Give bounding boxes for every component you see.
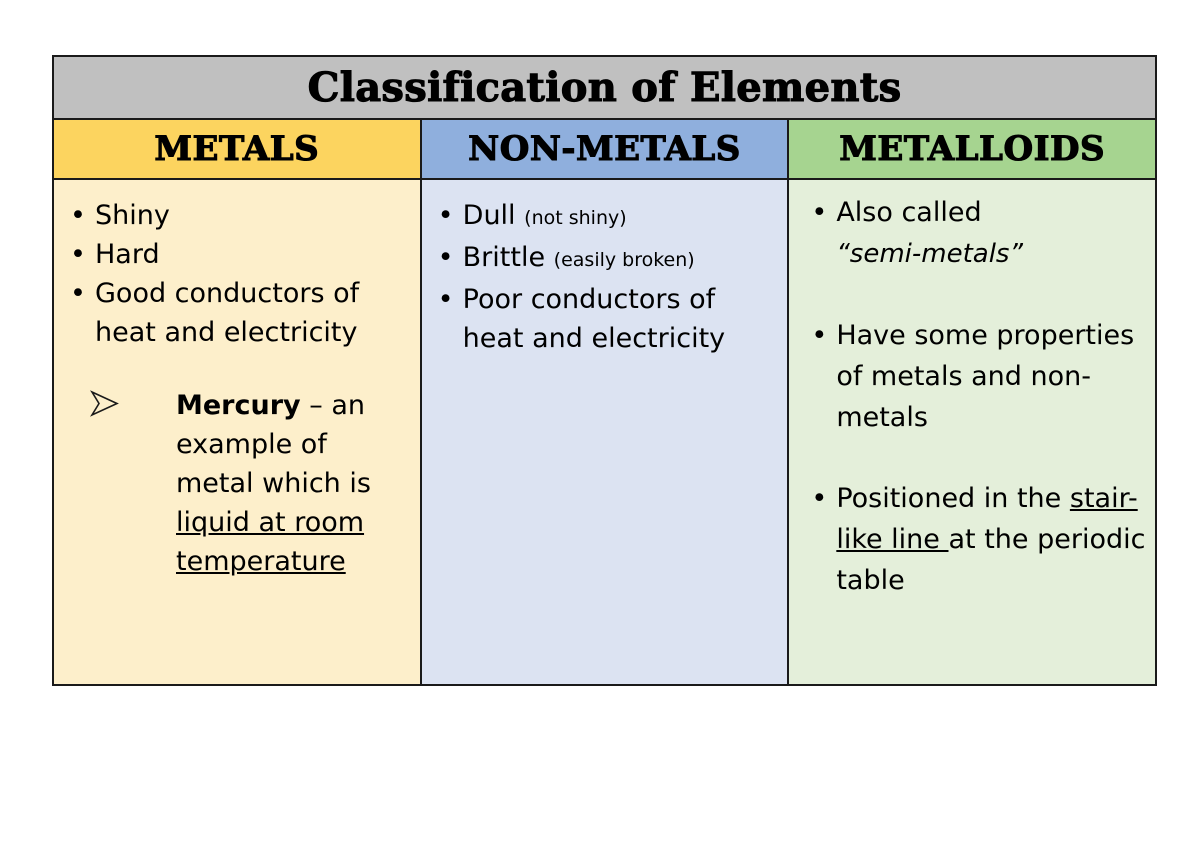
column-header-metalloids: METALLOIDS	[788, 119, 1156, 179]
non-metals-content: • Dull (not shiny) • Brittle (easily bro…	[422, 180, 788, 368]
list-item: • Good conductors of heat and electricit…	[68, 274, 410, 352]
list-item-note: (not shiny)	[524, 207, 627, 229]
bullet-dot-icon: •	[438, 238, 454, 277]
list-item-label: Also called	[836, 197, 981, 228]
bullet-dot-icon: •	[811, 478, 827, 519]
spacer	[809, 438, 1147, 478]
list-item-label: Hard	[95, 239, 160, 270]
list-item-label: Have some properties of metals and non-m…	[836, 320, 1134, 433]
bullet-dot-icon: •	[811, 315, 827, 356]
list-item: • Have some properties of metals and non…	[809, 315, 1147, 438]
list-item: • Positioned in the stair-like line at t…	[809, 478, 1147, 601]
metalloids-content: • Also called “semi-metals” • Have some …	[789, 180, 1155, 611]
bullet-dot-icon: •	[811, 192, 827, 233]
mercury-underlined-text: liquid at room temperature	[176, 507, 364, 577]
metalloids-bullet-list: • Also called “semi-metals” • Have some …	[809, 192, 1147, 601]
bullet-dot-icon: •	[438, 280, 454, 319]
table-title-row: Classification of Elements	[53, 56, 1156, 119]
bullet-dot-icon: •	[70, 235, 86, 274]
list-item: • Dull (not shiny)	[436, 196, 778, 238]
mercury-term: Mercury	[176, 390, 301, 421]
spacer	[809, 275, 1147, 315]
column-body-metalloids: • Also called “semi-metals” • Have some …	[788, 179, 1156, 685]
list-item: • Also called “semi-metals”	[809, 192, 1147, 275]
page-canvas: Classification of Elements METALS NON-ME…	[0, 0, 1200, 849]
column-header-metals-label: METALS	[54, 131, 420, 167]
column-header-metalloids-label: METALLOIDS	[789, 131, 1155, 167]
list-item-label: Dull	[463, 200, 516, 231]
mercury-dash: –	[301, 390, 332, 421]
list-item: • Brittle (easily broken)	[436, 238, 778, 280]
list-item-label: Brittle	[463, 242, 545, 273]
table-body-row: • Shiny • Hard • Good conductors of heat…	[53, 179, 1156, 685]
non-metals-bullet-list: • Dull (not shiny) • Brittle (easily bro…	[436, 196, 778, 358]
table-title-cell: Classification of Elements	[53, 56, 1156, 119]
mercury-note: Mercury – an example of metal which is l…	[68, 386, 410, 581]
column-body-metals: • Shiny • Hard • Good conductors of heat…	[53, 179, 421, 685]
list-item-note: (easily broken)	[554, 249, 695, 271]
list-item-label: Good conductors of heat and electricity	[95, 278, 359, 348]
list-item: • Shiny	[68, 196, 410, 235]
list-item: • Poor conductors of heat and electricit…	[436, 280, 778, 358]
column-body-non-metals: • Dull (not shiny) • Brittle (easily bro…	[421, 179, 789, 685]
metals-content: • Shiny • Hard • Good conductors of heat…	[54, 180, 420, 591]
table-header-row: METALS NON-METALS METALLOIDS	[53, 119, 1156, 179]
bullet-dot-icon: •	[70, 274, 86, 313]
bullet-dot-icon: •	[438, 196, 454, 235]
arrow-bullet-icon	[90, 390, 120, 418]
page-title: Classification of Elements	[54, 66, 1155, 110]
column-header-non-metals: NON-METALS	[421, 119, 789, 179]
list-item-label: Shiny	[95, 200, 170, 231]
semi-metals-quote: “semi-metals”	[836, 239, 1023, 269]
column-header-non-metals-label: NON-METALS	[422, 131, 788, 167]
list-item: • Hard	[68, 235, 410, 274]
bullet-dot-icon: •	[70, 196, 86, 235]
classification-of-elements-table: Classification of Elements METALS NON-ME…	[52, 55, 1157, 686]
list-item-label: Poor conductors of heat and electricity	[463, 284, 726, 354]
metals-bullet-list: • Shiny • Hard • Good conductors of heat…	[68, 196, 410, 352]
column-header-metals: METALS	[53, 119, 421, 179]
list-item-prefix: Positioned in the	[836, 483, 1070, 514]
spacer	[68, 352, 410, 386]
